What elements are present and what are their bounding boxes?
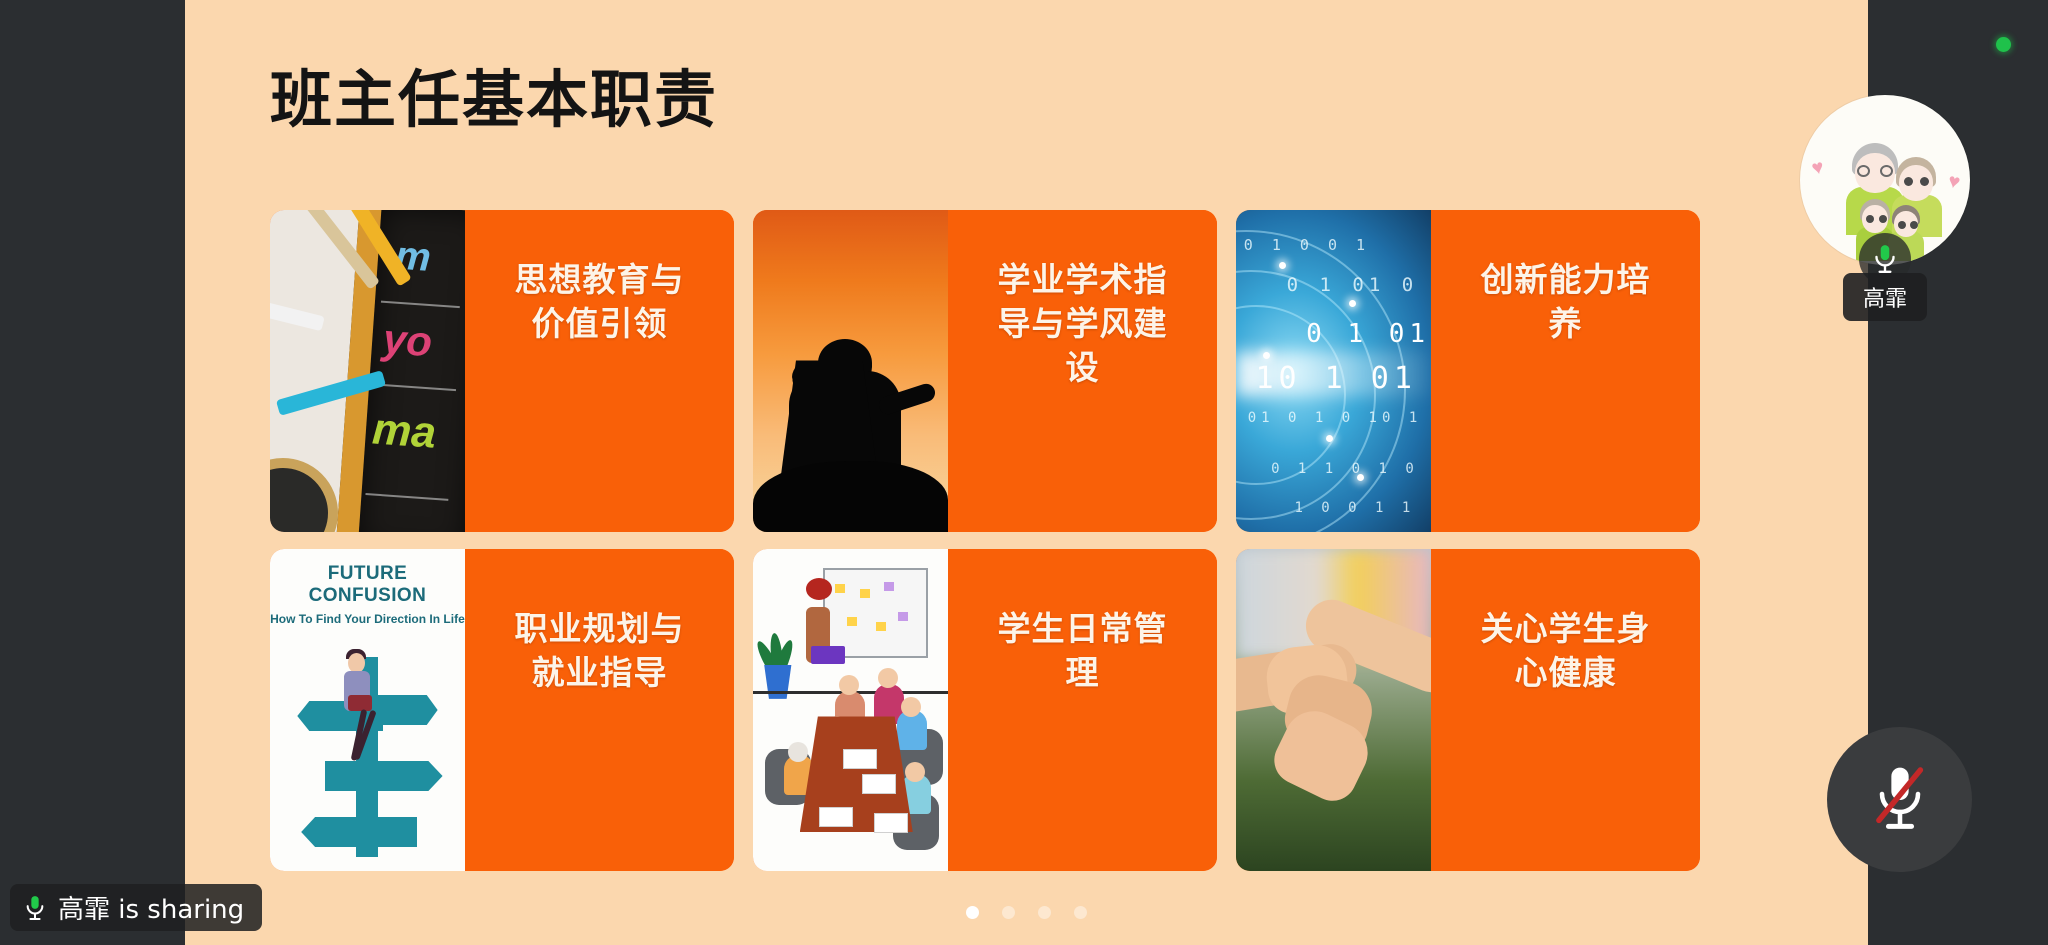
slide-title: 班主任基本职责 <box>270 66 718 134</box>
card-title: 职业规划与就业指导 <box>499 607 699 695</box>
mute-microphone-button[interactable] <box>1827 727 1972 872</box>
responsibility-card[interactable]: 关心学生身心健康 <box>1236 549 1700 871</box>
card-image-stacked-hands <box>1236 549 1431 871</box>
card-title: 学业学术指导与学风建设 <box>982 258 1182 390</box>
mic-muted-icon <box>1869 764 1931 836</box>
card-body: 学生日常管理 <box>948 549 1217 871</box>
card-body: 职业规划与就业指导 <box>465 549 734 871</box>
card-body: 关心学生身心健康 <box>1431 549 1700 871</box>
responsibility-card[interactable]: 学业学术指导与学风建设 <box>753 210 1217 532</box>
card-image-speaker-podium <box>753 210 948 532</box>
sharing-status-text: 高霏 is sharing <box>58 889 244 926</box>
card-title: 学生日常管理 <box>982 607 1182 695</box>
card-body: 创新能力培养 <box>1431 210 1700 532</box>
heart-icon: ♥ <box>1810 156 1826 181</box>
participant-name-label: 高霏 <box>1843 273 1927 321</box>
responsibility-card-grid: m yo ma 思想教育与价值引领 <box>270 210 1700 871</box>
card-image-future-confusion-poster: FUTURE CONFUSION How To Find Your Direct… <box>270 549 465 871</box>
card-title: 思想教育与价值引领 <box>499 258 699 346</box>
card-body: 思想教育与价值引领 <box>465 210 734 532</box>
poster-subtitle: How To Find Your Direction In Life <box>270 612 465 626</box>
pagination-dot-2[interactable] <box>1002 906 1015 919</box>
card-title: 关心学生身心健康 <box>1465 607 1665 695</box>
microphone-green-icon <box>24 894 46 922</box>
responsibility-card[interactable]: 0 1 0 0 1 0 1 01 0 0 1 01 0 10 1 01 01 0… <box>1236 210 1700 532</box>
pagination-dot-4[interactable] <box>1074 906 1087 919</box>
recording-indicator-icon <box>1996 37 2011 52</box>
pagination-dot-1[interactable] <box>966 906 979 919</box>
pagination-dot-3[interactable] <box>1038 906 1051 919</box>
poster-title: FUTURE CONFUSION <box>270 563 465 607</box>
card-image-digital-technology: 0 1 0 0 1 0 1 01 0 0 1 01 0 10 1 01 01 0… <box>1236 210 1431 532</box>
shared-screen-slide: 班主任基本职责 m yo ma <box>185 0 1868 945</box>
screen-sharing-banner[interactable]: 高霏 is sharing <box>10 884 262 931</box>
card-body: 学业学术指导与学风建设 <box>948 210 1217 532</box>
responsibility-card[interactable]: 学生日常管理 <box>753 549 1217 871</box>
responsibility-card[interactable]: m yo ma 思想教育与价值引领 <box>270 210 734 532</box>
card-title: 创新能力培养 <box>1465 258 1665 346</box>
card-image-classroom-meeting <box>753 549 948 871</box>
card-image-chalkboard: m yo ma <box>270 210 465 532</box>
responsibility-card[interactable]: FUTURE CONFUSION How To Find Your Direct… <box>270 549 734 871</box>
participant-video-tile[interactable]: ♥ ♥ 高霏 <box>1800 95 1970 265</box>
slide-pagination[interactable] <box>185 906 1868 919</box>
heart-icon: ♥ <box>1946 170 1962 195</box>
